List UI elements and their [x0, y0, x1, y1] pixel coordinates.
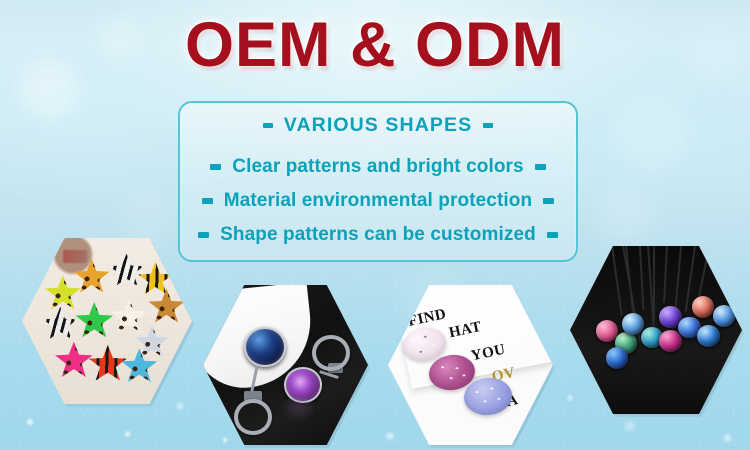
- dash-icon: [263, 123, 273, 128]
- feature-title: VARIOUS SHAPES: [284, 114, 472, 137]
- feature-item-label: Material environmental protection: [224, 190, 532, 212]
- galaxy-pendant: [659, 330, 681, 352]
- star-bead: [54, 341, 93, 379]
- bokeh-blob: [120, 190, 174, 244]
- necklace-cord: [696, 246, 710, 306]
- dash-icon: [483, 123, 493, 128]
- galaxy-pendant: [678, 317, 700, 339]
- feature-item-label: Clear patterns and bright colors: [232, 156, 523, 178]
- bokeh-blob: [612, 96, 688, 172]
- photo-content: FIND HAT YOU OV A: [388, 285, 553, 445]
- star-bead: [42, 306, 78, 341]
- star-bead: [110, 298, 147, 335]
- necklace-cord: [611, 246, 623, 316]
- product-photo-galaxy-keychains[interactable]: [203, 285, 368, 445]
- necklace-cord: [639, 246, 644, 310]
- necklace-cord: [622, 246, 641, 342]
- product-photo-animal-print-star-beads[interactable]: [22, 238, 192, 404]
- galaxy-pendant: [713, 305, 735, 327]
- dash-icon: [202, 198, 213, 204]
- star-bead: [88, 344, 127, 382]
- star-bead: [109, 253, 145, 288]
- feature-item: Shape patterns can be customized: [198, 224, 558, 246]
- necklace-cord: [625, 246, 636, 330]
- star-bead: [138, 261, 174, 296]
- dash-icon: [198, 232, 209, 238]
- galaxy-pendant: [622, 313, 644, 335]
- necklace-cord: [663, 246, 668, 303]
- product-photo-galaxy-ball-necklaces[interactable]: [570, 246, 742, 414]
- dash-icon: [210, 164, 221, 170]
- galaxy-pendant: [697, 325, 719, 347]
- key-ring: [312, 335, 350, 372]
- galaxy-pendant: [606, 347, 628, 369]
- star-bead: [75, 301, 114, 339]
- necklace-cord: [647, 246, 656, 347]
- star-bead: [121, 348, 158, 385]
- dash-icon: [547, 232, 558, 238]
- product-photo-floral-oval-cabochons[interactable]: FIND HAT YOU OV A: [388, 285, 553, 445]
- page-title: OEM & ODM: [0, 6, 750, 84]
- galaxy-pendant: [641, 327, 663, 349]
- feature-box: VARIOUS SHAPES Clear patterns and bright…: [178, 101, 578, 262]
- galaxy-pendant: [615, 332, 637, 354]
- bokeh-blob: [596, 186, 654, 244]
- dash-icon: [535, 164, 546, 170]
- reflection: [281, 397, 317, 423]
- star-bead: [73, 258, 110, 295]
- dash-icon: [543, 198, 554, 204]
- feature-item-label: Shape patterns can be customized: [220, 224, 536, 246]
- necklace-cord: [674, 246, 682, 320]
- necklace-cord: [653, 246, 655, 323]
- galaxy-cabochon-blue: [244, 327, 285, 367]
- galaxy-pendant: [596, 320, 618, 342]
- necklace-cord: [684, 246, 695, 313]
- photo-content: [570, 246, 742, 414]
- feature-item: Clear patterns and bright colors: [210, 156, 545, 178]
- promo-banner: OEM & ODM VARIOUS SHAPES Clear patterns …: [0, 0, 750, 450]
- galaxy-pendant: [692, 296, 714, 318]
- galaxy-pendant: [659, 306, 681, 328]
- star-bead: [134, 324, 170, 359]
- photo-content: [22, 238, 192, 404]
- watermark-logo: [63, 250, 87, 263]
- star-bead: [148, 288, 185, 325]
- star-bead: [44, 275, 81, 312]
- key-ring: [234, 399, 272, 436]
- feature-title-row: VARIOUS SHAPES: [263, 114, 493, 137]
- feature-item: Material environmental protection: [202, 190, 554, 212]
- photo-content: [203, 285, 368, 445]
